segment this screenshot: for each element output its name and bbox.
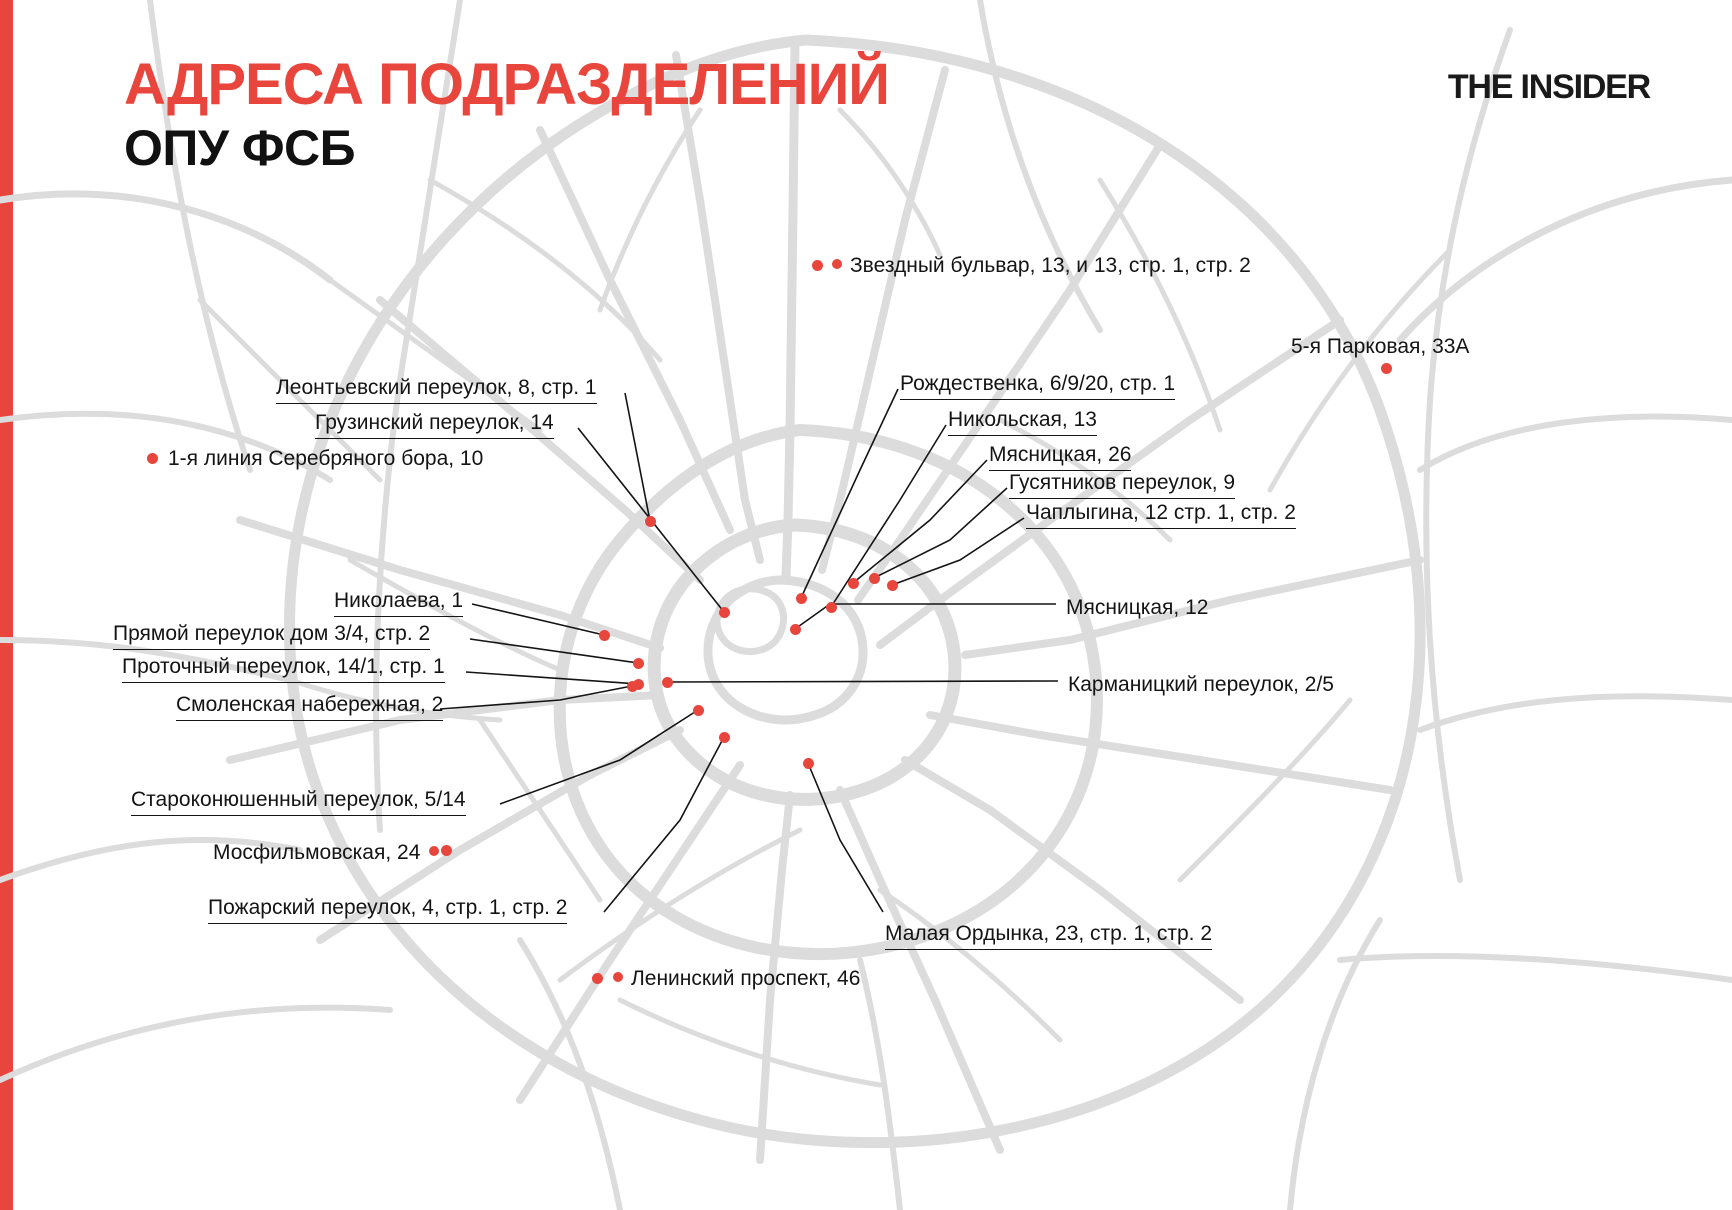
address-label-text: Гусятников переулок, 9 [1009, 471, 1235, 494]
address-label-karmanitsky: Карманицкий переулок, 2/5 [1068, 672, 1334, 697]
address-label-nikolaeva: Николаева, 1 [334, 588, 463, 617]
map-marker-parkovaya5[interactable] [1381, 363, 1392, 374]
map-marker-serebryany-bor[interactable] [147, 453, 158, 464]
address-label-myasnitskaya12: Мясницкая, 12 [1066, 595, 1208, 620]
address-label-zvezdny: Звездный бульвар, 13, и 13, стр. 1, стр.… [832, 253, 1251, 278]
marker-dot-icon [613, 972, 623, 982]
address-label-parkovaya5: 5-я Парковая, 33А [1291, 334, 1469, 359]
address-label-nikolskaya: Никольская, 13 [948, 407, 1097, 436]
moscow-road-map [0, 0, 1732, 1210]
address-label-rozhdestvenka: Рождественка, 6/9/20, стр. 1 [900, 371, 1175, 400]
page-title: АДРЕСА ПОДРАЗДЕЛЕНИЙ ОПУ ФСБ [124, 55, 889, 178]
address-label-text: Николаева, 1 [334, 589, 463, 612]
address-label-text: Прямой переулок дом 3/4, стр. 2 [113, 622, 430, 645]
address-label-text: Ленинский проспект, 46 [631, 967, 860, 990]
map-marker-starokon[interactable] [693, 705, 704, 716]
map-marker-nikolskaya[interactable] [826, 602, 837, 613]
address-label-text: 1-я линия Серебряного бора, 10 [168, 447, 483, 470]
address-label-chaplygina: Чаплыгина, 12 стр. 1, стр. 2 [1026, 500, 1296, 529]
address-label-starokon: Староконюшенный переулок, 5/14 [131, 787, 466, 816]
address-label-protochny: Проточный переулок, 14/1, стр. 1 [122, 654, 445, 683]
address-label-text: Леонтьевский переулок, 8, стр. 1 [276, 376, 597, 399]
the-insider-logo: THE INSIDER [1448, 68, 1650, 107]
address-label-text: Пожарский переулок, 4, стр. 1, стр. 2 [208, 896, 567, 919]
address-label-pozharsky: Пожарский переулок, 4, стр. 1, стр. 2 [208, 895, 567, 924]
map-marker-mosfilmovskaya[interactable] [441, 845, 452, 856]
address-label-text: Мосфильмовская, 24 [213, 841, 420, 864]
address-label-text: Чаплыгина, 12 стр. 1, стр. 2 [1026, 501, 1296, 524]
address-label-text: Никольская, 13 [948, 408, 1097, 431]
address-label-text: Карманицкий переулок, 2/5 [1068, 673, 1334, 696]
address-label-gruzinsky: Грузинский переулок, 14 [315, 410, 554, 439]
address-label-text: Рождественка, 6/9/20, стр. 1 [900, 372, 1175, 395]
address-label-smolenskaya: Смоленская набережная, 2 [176, 692, 443, 721]
infographic-canvas: АДРЕСА ПОДРАЗДЕЛЕНИЙ ОПУ ФСБ THE INSIDER… [0, 0, 1732, 1210]
map-marker-malaya-ordynka[interactable] [803, 758, 814, 769]
address-label-text: Грузинский переулок, 14 [315, 411, 554, 434]
map-marker-gusyatnikov[interactable] [869, 573, 880, 584]
map-marker-leontievsky[interactable] [645, 516, 656, 527]
map-marker-nikolaeva[interactable] [599, 630, 610, 641]
address-label-text: Мясницкая, 12 [1066, 596, 1208, 619]
map-marker-rozhdestvenka[interactable] [796, 593, 807, 604]
map-marker-myasnitskaya12[interactable] [790, 624, 801, 635]
address-label-myasnitskaya26: Мясницкая, 26 [989, 442, 1131, 471]
map-marker-leninsky[interactable] [592, 973, 603, 984]
map-marker-pryamoy[interactable] [633, 658, 644, 669]
address-label-leontievsky: Леонтьевский переулок, 8, стр. 1 [276, 375, 597, 404]
map-marker-gruzinsky[interactable] [719, 607, 730, 618]
address-label-text: Звездный бульвар, 13, и 13, стр. 1, стр.… [850, 254, 1251, 277]
address-label-text: Малая Ордынка, 23, стр. 1, стр. 2 [885, 922, 1212, 945]
address-label-text: Смоленская набережная, 2 [176, 693, 443, 716]
marker-dot-icon [429, 846, 439, 856]
map-marker-karmanitsky[interactable] [662, 677, 673, 688]
map-marker-smolenskaya[interactable] [627, 681, 638, 692]
marker-dot-icon [832, 259, 842, 269]
map-marker-chaplygina[interactable] [887, 580, 898, 591]
address-label-serebryany-bor: 1-я линия Серебряного бора, 10 [168, 446, 483, 471]
map-marker-myasnitskaya26[interactable] [848, 578, 859, 589]
address-label-mosfilmovskaya: Мосфильмовская, 24 [213, 840, 439, 865]
address-label-gusyatnikov: Гусятников переулок, 9 [1009, 470, 1235, 499]
address-label-malaya-ordynka: Малая Ордынка, 23, стр. 1, стр. 2 [885, 921, 1212, 950]
map-marker-pozharsky[interactable] [719, 732, 730, 743]
address-label-text: Мясницкая, 26 [989, 443, 1131, 466]
address-label-pryamoy: Прямой переулок дом 3/4, стр. 2 [113, 621, 430, 650]
title-main: АДРЕСА ПОДРАЗДЕЛЕНИЙ [124, 55, 889, 114]
address-label-leninsky: Ленинский проспект, 46 [613, 966, 860, 991]
map-marker-zvezdny[interactable] [812, 260, 823, 271]
address-label-text: Староконюшенный переулок, 5/14 [131, 788, 466, 811]
address-label-text: 5-я Парковая, 33А [1291, 335, 1469, 358]
title-sub: ОПУ ФСБ [124, 120, 889, 178]
address-label-text: Проточный переулок, 14/1, стр. 1 [122, 655, 445, 678]
